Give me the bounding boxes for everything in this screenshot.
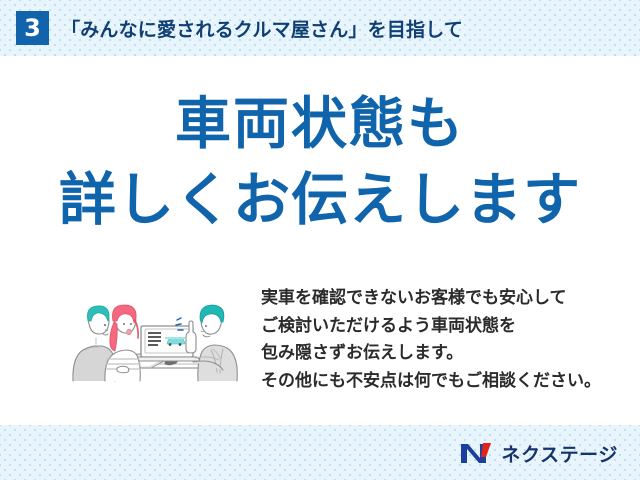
body-copy: 実車を確認できないお客様でも安心して ご検討いただけるよう車両状態を 包み隠さず… bbox=[261, 284, 611, 394]
headline-line-2: 詳しくお伝えします bbox=[0, 172, 640, 229]
consultation-illustration bbox=[55, 276, 255, 386]
promo-slide: 3 「みんなに愛されるクルマ屋さん」を目指して 車両状態も 詳しくお伝えします bbox=[0, 0, 640, 480]
body-copy-line-4: その他にも不安点は何でもご相談ください。 bbox=[261, 367, 611, 395]
body-copy-line-3: 包み隠さずお伝えします。 bbox=[261, 339, 611, 367]
body-copy-line-1: 実車を確認できないお客様でも安心して bbox=[261, 284, 611, 312]
header-title: 「みんなに愛されるクルマ屋さん」を目指して bbox=[61, 15, 463, 42]
consultation-illustration-svg bbox=[55, 276, 255, 386]
header: 3 「みんなに愛されるクルマ屋さん」を目指して bbox=[0, 0, 640, 56]
brand-logo: ネクステージ bbox=[460, 440, 618, 466]
headline: 車両状態も 詳しくお伝えします bbox=[0, 96, 640, 229]
step-number-badge: 3 bbox=[16, 11, 49, 45]
nextstage-n-logo-icon bbox=[460, 441, 494, 465]
brand-logo-text: ネクステージ bbox=[501, 440, 618, 467]
headline-line-1: 車両状態も bbox=[0, 96, 640, 152]
body-copy-line-2: ご検討いただけるよう車両状態を bbox=[261, 312, 611, 340]
